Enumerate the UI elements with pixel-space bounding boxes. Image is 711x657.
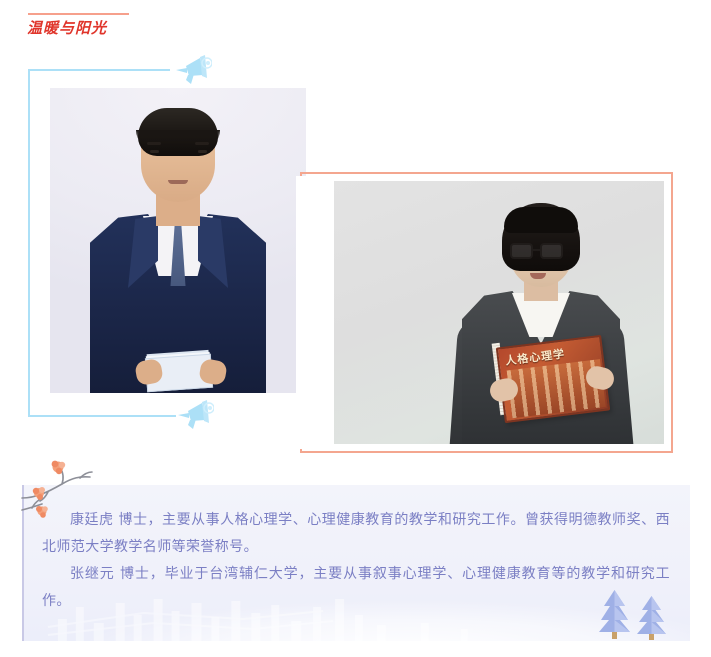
- photo-glasses-right: [540, 243, 563, 259]
- photo-eye-right: [198, 150, 207, 153]
- title-rule: [28, 13, 129, 15]
- bio-paragraph-1: 康廷虎 博士，主要从事人格心理学、心理健康教育的教学和研究工作。曾获得明德教师奖…: [42, 507, 670, 561]
- bio-paragraph-2: 张继元 博士，毕业于台湾辅仁大学，主要从事叙事心理学、心理健康教育等的教学和研究…: [42, 561, 670, 615]
- pine-trees-icon: [592, 588, 682, 642]
- megaphone-icon: [174, 51, 212, 85]
- photo-glasses-left: [510, 243, 533, 259]
- photo-eyebrow-left: [147, 142, 161, 145]
- photo-hair-fringe: [504, 207, 578, 233]
- page-title: 温暖与阳光: [27, 18, 107, 38]
- bio-paragraphs: 康廷虎 博士，主要从事人格心理学、心理健康教育的教学和研究工作。曾获得明德教师奖…: [24, 507, 690, 615]
- photo-mouth: [168, 180, 188, 184]
- photo-eyebrow-right: [195, 142, 209, 145]
- plum-blossom-branch-icon: [18, 458, 108, 520]
- portrait-photo-left: [50, 88, 306, 393]
- right-frame-left-gap: [296, 176, 306, 449]
- portrait-photo-right: 人格心理学: [334, 181, 664, 444]
- photo-eye-left: [150, 150, 159, 153]
- megaphone-icon: [176, 396, 214, 430]
- photo-glasses-bridge: [533, 249, 540, 251]
- bio-text-panel: 康廷虎 博士，主要从事人格心理学、心理健康教育的教学和研究工作。曾获得明德教师奖…: [22, 485, 690, 641]
- page-root: 温暖与阳光: [0, 0, 711, 657]
- photo-hair: [138, 108, 218, 156]
